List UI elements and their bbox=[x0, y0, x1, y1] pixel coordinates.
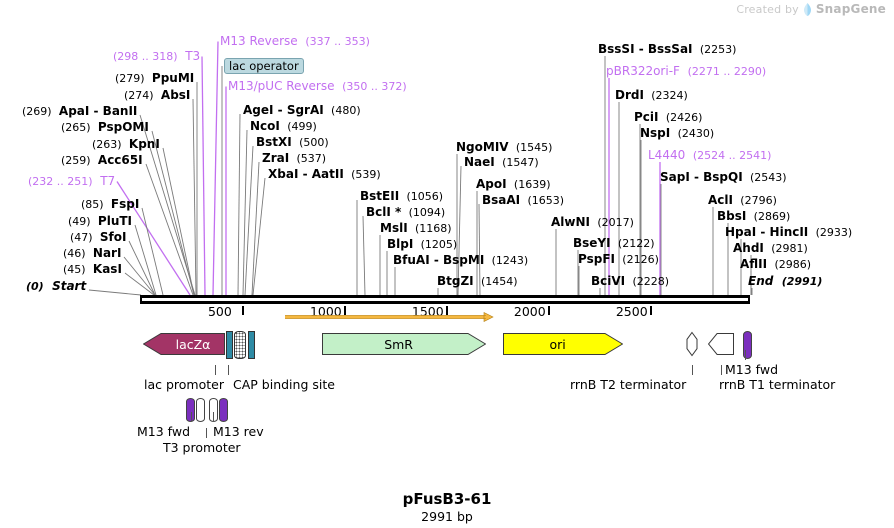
enzyme-label-position: (2986) bbox=[774, 258, 811, 271]
enzyme-label-name: End bbox=[748, 274, 773, 288]
enzyme-label-name: BfuAI - BspMI bbox=[393, 253, 484, 267]
enzyme-label-position: (337 .. 353) bbox=[305, 35, 370, 48]
enzyme-label-bseyi[interactable]: BseYI (2122) bbox=[573, 237, 654, 250]
leader-line-bstxi bbox=[245, 146, 253, 295]
ruler-tick-label-1000: 1000 bbox=[310, 304, 342, 319]
enzyme-label-position: (2981) bbox=[771, 242, 808, 255]
enzyme-label-name: Acc65I bbox=[98, 153, 143, 167]
enzyme-label-blpi[interactable]: BlpI (1205) bbox=[387, 238, 457, 251]
ruler-tick-label-2000: 2000 bbox=[514, 304, 546, 319]
enzyme-label-name: NspI bbox=[640, 126, 670, 140]
leader-line-xbai bbox=[253, 178, 265, 295]
enzyme-label-name: BstEII bbox=[360, 189, 399, 203]
enzyme-label-position: (2228) bbox=[632, 275, 669, 288]
enzyme-label-start[interactable]: (0) Start bbox=[26, 280, 86, 293]
feature-arrow-t1term[interactable] bbox=[708, 331, 734, 357]
leader-line-m13rev bbox=[213, 42, 218, 296]
ruler-cap-left bbox=[140, 295, 142, 304]
enzyme-label-kasi[interactable]: (45) KasI bbox=[63, 263, 122, 276]
enzyme-label-sapi[interactable]: SapI - BspQI (2543) bbox=[660, 171, 787, 184]
enzyme-label-position: (1243) bbox=[492, 254, 529, 267]
enzyme-label-name: SfoI bbox=[100, 230, 127, 244]
enzyme-label-position: (2796) bbox=[740, 194, 777, 207]
enzyme-label-name: L4440 bbox=[648, 148, 685, 162]
enzyme-label-position: (1653) bbox=[527, 194, 564, 207]
enzyme-label-bstxi[interactable]: BstXI (500) bbox=[256, 136, 329, 149]
enzyme-label-name: AlwNI bbox=[551, 215, 590, 229]
caption-tick-cap-binding-site bbox=[228, 365, 229, 375]
enzyme-label-agei[interactable]: AgeI - SgrAI (480) bbox=[243, 104, 361, 117]
leader-line-fspi bbox=[142, 208, 163, 295]
caption-rrnb-t2[interactable]: rrnB T2 terminator bbox=[570, 377, 686, 392]
enzyme-label-ngomiv[interactable]: NgoMIV (1545) bbox=[456, 141, 552, 154]
enzyme-label-kpni[interactable]: (263) KpnI bbox=[92, 138, 160, 151]
enzyme-label-sfoi[interactable]: (47) SfoI bbox=[70, 231, 126, 244]
enzyme-label-pcii[interactable]: PciI (2426) bbox=[634, 111, 702, 124]
leader-line-start bbox=[89, 290, 141, 295]
enzyme-label-bfuai[interactable]: BfuAI - BspMI (1243) bbox=[393, 254, 528, 267]
enzyme-label-position: (263) bbox=[92, 138, 122, 151]
enzyme-label-apoi[interactable]: ApoI (1639) bbox=[476, 178, 550, 191]
caption-tick-lac-promoter bbox=[215, 365, 216, 375]
ruler-tick-label-500: 500 bbox=[208, 304, 232, 319]
caption-tick-m13-rev-bottom bbox=[213, 412, 214, 422]
enzyme-label-name: HpaI - HincII bbox=[725, 225, 808, 239]
enzyme-label-position: (1205) bbox=[421, 238, 458, 251]
enzyme-label-name: AhdI bbox=[733, 241, 764, 255]
enzyme-label-name: SapI - BspQI bbox=[660, 170, 743, 184]
enzyme-label-nari[interactable]: (46) NarI bbox=[63, 247, 121, 260]
enzyme-label-name: AgeI - SgrAI bbox=[243, 103, 324, 117]
enzyme-label-name: MslI bbox=[380, 221, 408, 235]
enzyme-label-bcli[interactable]: BclI * (1094) bbox=[366, 206, 445, 219]
enzyme-label-position: (499) bbox=[287, 120, 317, 133]
enzyme-label-acli[interactable]: AclI (2796) bbox=[708, 194, 777, 207]
enzyme-label-drdi[interactable]: DrdI (2324) bbox=[615, 89, 688, 102]
enzyme-label-apai[interactable]: (269) ApaI - BanII bbox=[22, 105, 137, 118]
enzyme-label-position: (298 .. 318) bbox=[113, 50, 178, 63]
enzyme-label-name: T7 bbox=[100, 174, 115, 188]
snapgene-watermark: Created by SnapGene bbox=[736, 2, 886, 16]
enzyme-label-name: pBR322ori-F bbox=[606, 64, 680, 78]
enzyme-label-position: (2271 .. 2290) bbox=[688, 65, 767, 78]
ruler-cap-right bbox=[748, 295, 750, 304]
lac-operator-block bbox=[234, 331, 246, 359]
ruler-bar-top bbox=[140, 295, 750, 298]
enzyme-label-name: KasI bbox=[93, 262, 122, 276]
enzyme-label-position: (232 .. 251) bbox=[28, 175, 93, 188]
enzyme-label-name: M13 Reverse bbox=[220, 34, 298, 48]
enzyme-label-pspfi[interactable]: PspFI (2126) bbox=[578, 253, 659, 266]
enzyme-label-position: (47) bbox=[70, 231, 93, 244]
enzyme-label-name: BciVI bbox=[591, 274, 625, 288]
enzyme-label-m13puc[interactable]: M13/pUC Reverse (350 .. 372) bbox=[228, 80, 407, 93]
enzyme-label-position: (2126) bbox=[622, 253, 659, 266]
enzyme-label-position: (2324) bbox=[651, 89, 688, 102]
leader-line-zrai bbox=[252, 162, 259, 295]
enzyme-label-name: ApoI bbox=[476, 177, 507, 191]
enzyme-label-fspi[interactable]: (85) FspI bbox=[81, 198, 139, 211]
feature-arrow-smr[interactable]: SmR bbox=[322, 331, 486, 357]
enzyme-label-position: (269) bbox=[22, 105, 52, 118]
leader-line-bcli bbox=[363, 216, 365, 295]
enzyme-label-name: Start bbox=[52, 279, 86, 293]
leader-line-absi bbox=[193, 99, 196, 295]
watermark-prefix: Created by bbox=[736, 3, 799, 16]
enzyme-label-name: BsaAI bbox=[482, 193, 520, 207]
enzyme-label-position: (537) bbox=[297, 152, 327, 165]
enzyme-label-position: (274) bbox=[124, 89, 154, 102]
enzyme-label-position: (2869) bbox=[754, 210, 791, 223]
enzyme-label-name: BbsI bbox=[717, 209, 746, 223]
leader-line-acc65i bbox=[146, 164, 193, 295]
enzyme-label-position: (2543) bbox=[750, 171, 787, 184]
enzyme-label-position: (2430) bbox=[678, 127, 715, 140]
enzyme-label-position: (500) bbox=[299, 136, 329, 149]
lac-promoter-block bbox=[248, 331, 255, 359]
enzyme-label-ncoi[interactable]: NcoI (499) bbox=[250, 120, 317, 133]
enzyme-label-name: BstXI bbox=[256, 135, 292, 149]
plasmid-length: 2991 bp bbox=[0, 509, 894, 524]
caption-cap-binding-site[interactable]: CAP binding site bbox=[233, 377, 335, 392]
enzyme-label-aflii[interactable]: AflII (2986) bbox=[740, 258, 811, 271]
leader-line-kasi bbox=[125, 273, 154, 295]
leader-line-t3 bbox=[202, 57, 205, 296]
feature-arrow-shape bbox=[687, 333, 697, 356]
enzyme-label-position: (480) bbox=[331, 104, 361, 117]
enzyme-label-l4440[interactable]: L4440 (2524 .. 2541) bbox=[648, 149, 771, 162]
enzyme-label-name: NarI bbox=[93, 246, 122, 260]
enzyme-label-position: (1639) bbox=[514, 178, 551, 191]
enzyme-label-naei[interactable]: NaeI (1547) bbox=[464, 156, 539, 169]
cap-binding-site-block bbox=[226, 331, 233, 359]
enzyme-label-name: NcoI bbox=[250, 119, 280, 133]
enzyme-label-bsaai[interactable]: BsaAI (1653) bbox=[482, 194, 564, 207]
enzyme-label-position: (1094) bbox=[409, 206, 446, 219]
enzyme-label-name: PciI bbox=[634, 110, 659, 124]
enzyme-label-position: (1547) bbox=[502, 156, 539, 169]
caption-m13-fwd-right[interactable]: M13 fwd bbox=[725, 362, 778, 377]
enzyme-label-bstei[interactable]: BstEII (1056) bbox=[360, 190, 443, 203]
enzyme-label-position: (1454) bbox=[481, 275, 518, 288]
ruler-tick-mark-1500 bbox=[446, 306, 448, 315]
enzyme-label-name: NaeI bbox=[464, 155, 495, 169]
enzyme-label-lacop[interactable]: lac operator bbox=[224, 58, 304, 74]
enzyme-label-name: ZraI bbox=[262, 151, 289, 165]
watermark-brand: SnapGene bbox=[816, 2, 886, 16]
enzyme-label-name: AbsI bbox=[161, 88, 190, 102]
enzyme-label-pspomi[interactable]: (265) PspOMI bbox=[61, 121, 149, 134]
enzyme-label-name: AclI bbox=[708, 193, 733, 207]
enzyme-label-position: (2253) bbox=[700, 43, 737, 56]
enzyme-label-alwni[interactable]: AlwNI (2017) bbox=[551, 216, 634, 229]
caption-tick-m13-fwd-right bbox=[745, 350, 746, 360]
caption-m13-fwd-bottom[interactable]: M13 fwd bbox=[137, 424, 190, 439]
enzyme-label-position: (259) bbox=[61, 154, 91, 167]
enzyme-label-position: (1545) bbox=[516, 141, 553, 154]
enzyme-label-name: BclI * bbox=[366, 205, 401, 219]
leader-line-agei bbox=[238, 114, 240, 295]
feature-arrow-label: ori bbox=[503, 331, 612, 357]
ruler-tick-mark-2000 bbox=[548, 306, 550, 315]
enzyme-label-pbr322[interactable]: pBR322ori-F (2271 .. 2290) bbox=[606, 65, 766, 78]
ruler-tick-label-2500: 2500 bbox=[616, 304, 648, 319]
leader-line-pspomi bbox=[152, 131, 194, 295]
m13-rev-marker-b[interactable] bbox=[219, 398, 228, 422]
enzyme-label-position: (2122) bbox=[618, 237, 655, 250]
enzyme-label-position: (2017) bbox=[597, 216, 634, 229]
caption-t3-promoter[interactable]: T3 promoter bbox=[163, 440, 241, 455]
enzyme-label-name: ApaI - BanII bbox=[59, 104, 138, 118]
caption-rrnb-t1[interactable]: rrnB T1 terminator bbox=[719, 377, 835, 392]
caption-tick-t3-promoter bbox=[206, 428, 207, 438]
enzyme-label-position: (2524 .. 2541) bbox=[693, 149, 772, 162]
enzyme-label-name: PspOMI bbox=[98, 120, 149, 134]
enzyme-label-position: (2426) bbox=[666, 111, 703, 124]
enzyme-label-name: BssSI - BssSaI bbox=[598, 42, 693, 56]
enzyme-label-position: (2991) bbox=[782, 275, 823, 288]
enzyme-label-position: (45) bbox=[63, 263, 86, 276]
caption-lac-promoter[interactable]: lac promoter bbox=[144, 377, 224, 392]
leader-line-nari bbox=[124, 257, 155, 295]
enzyme-label-position: (0) bbox=[26, 280, 44, 293]
feature-arrow-t2term[interactable] bbox=[686, 331, 698, 357]
enzyme-label-name: BlpI bbox=[387, 237, 413, 251]
enzyme-label-bcivi[interactable]: BciVI (2228) bbox=[591, 275, 669, 288]
enzyme-label-name: NgoMIV bbox=[456, 140, 509, 154]
enzyme-label-msli[interactable]: MslI (1168) bbox=[380, 222, 452, 235]
enzyme-label-position: (1056) bbox=[406, 190, 443, 203]
enzyme-label-position: (46) bbox=[63, 247, 86, 260]
enzyme-label-name: PluTI bbox=[98, 214, 132, 228]
ruler-tick-mark-1000 bbox=[344, 306, 346, 315]
enzyme-label-position: (350 .. 372) bbox=[342, 80, 407, 93]
enzyme-label-position: (1168) bbox=[415, 222, 452, 235]
enzyme-label-end[interactable]: End (2991) bbox=[748, 275, 822, 288]
enzyme-label-name: XbaI - AatII bbox=[268, 167, 344, 181]
enzyme-label-pluti[interactable]: (49) PluTI bbox=[68, 215, 132, 228]
feature-arrow-lacz[interactable]: lacZα bbox=[143, 331, 225, 357]
enzyme-label-position: (539) bbox=[351, 168, 381, 181]
enzyme-label-xbai[interactable]: XbaI - AatII (539) bbox=[268, 168, 381, 181]
mcs-cluster[interactable] bbox=[226, 331, 262, 357]
enzyme-label-position: (85) bbox=[81, 198, 104, 211]
enzyme-label-t7[interactable]: (232 .. 251) T7 bbox=[28, 175, 115, 188]
feature-arrow-label: SmR bbox=[322, 331, 475, 357]
ruler-tick-label-1500: 1500 bbox=[412, 304, 444, 319]
enzyme-label-position: (265) bbox=[61, 121, 91, 134]
caption-tick-rrnb-t2 bbox=[692, 365, 693, 375]
enzyme-label-m13rev[interactable]: M13 Reverse (337 .. 353) bbox=[220, 35, 370, 48]
caption-tick-rrnb-t1 bbox=[721, 365, 722, 375]
enzyme-label-name: lac operator bbox=[229, 59, 299, 73]
feature-arrow-label: lacZα bbox=[152, 331, 234, 357]
enzyme-label-absi[interactable]: (274) AbsI bbox=[124, 89, 190, 102]
enzyme-label-ppumi[interactable]: (279) PpuMI bbox=[115, 72, 194, 85]
enzyme-label-zrai[interactable]: ZraI (537) bbox=[262, 152, 326, 165]
enzyme-label-bbsi[interactable]: BbsI (2869) bbox=[717, 210, 790, 223]
m13-fwd-marker-b[interactable] bbox=[196, 398, 205, 422]
enzyme-label-bsssi[interactable]: BssSI - BssSaI (2253) bbox=[598, 43, 736, 56]
enzyme-label-name: FspI bbox=[111, 197, 139, 211]
leader-line-sfoi bbox=[129, 241, 155, 295]
caption-m13-rev-bottom[interactable]: M13 rev bbox=[213, 424, 264, 439]
enzyme-label-name: PpuMI bbox=[152, 71, 194, 85]
page-title: pFusB3-61 bbox=[0, 490, 894, 508]
leader-line-kpni bbox=[163, 148, 194, 295]
enzyme-label-position: (2933) bbox=[816, 226, 853, 239]
enzyme-label-name: AflII bbox=[740, 257, 767, 271]
enzyme-label-name: BseYI bbox=[573, 236, 611, 250]
enzyme-label-btgzi[interactable]: BtgZI (1454) bbox=[437, 275, 518, 288]
enzyme-label-name: BtgZI bbox=[437, 274, 474, 288]
enzyme-label-name: T3 bbox=[185, 49, 200, 63]
enzyme-label-ahdi[interactable]: AhdI (2981) bbox=[733, 242, 808, 255]
enzyme-label-acc65i[interactable]: (259) Acc65I bbox=[61, 154, 143, 167]
enzyme-label-position: (279) bbox=[115, 72, 145, 85]
ruler-tick-mark-500 bbox=[242, 306, 244, 315]
enzyme-label-name: DrdI bbox=[615, 88, 644, 102]
ruler-tick-mark-2500 bbox=[650, 306, 652, 315]
leader-line-ncoi bbox=[243, 130, 247, 295]
feature-arrow-shape bbox=[709, 334, 734, 355]
enzyme-label-name: PspFI bbox=[578, 252, 615, 266]
enzyme-label-hpai[interactable]: HpaI - HincII (2933) bbox=[725, 226, 852, 239]
enzyme-label-nspi[interactable]: NspI (2430) bbox=[640, 127, 714, 140]
enzyme-label-t3[interactable]: (298 .. 318) T3 bbox=[113, 50, 200, 63]
enzyme-label-name: KpnI bbox=[129, 137, 160, 151]
enzyme-label-position: (49) bbox=[68, 215, 91, 228]
caption-tick-m13-fwd-bottom bbox=[191, 412, 192, 422]
feature-arrow-ori[interactable]: ori bbox=[503, 331, 623, 357]
snapgene-leaf-icon bbox=[803, 3, 812, 16]
enzyme-label-name: M13/pUC Reverse bbox=[228, 79, 335, 93]
leader-line-pluti bbox=[135, 225, 156, 295]
